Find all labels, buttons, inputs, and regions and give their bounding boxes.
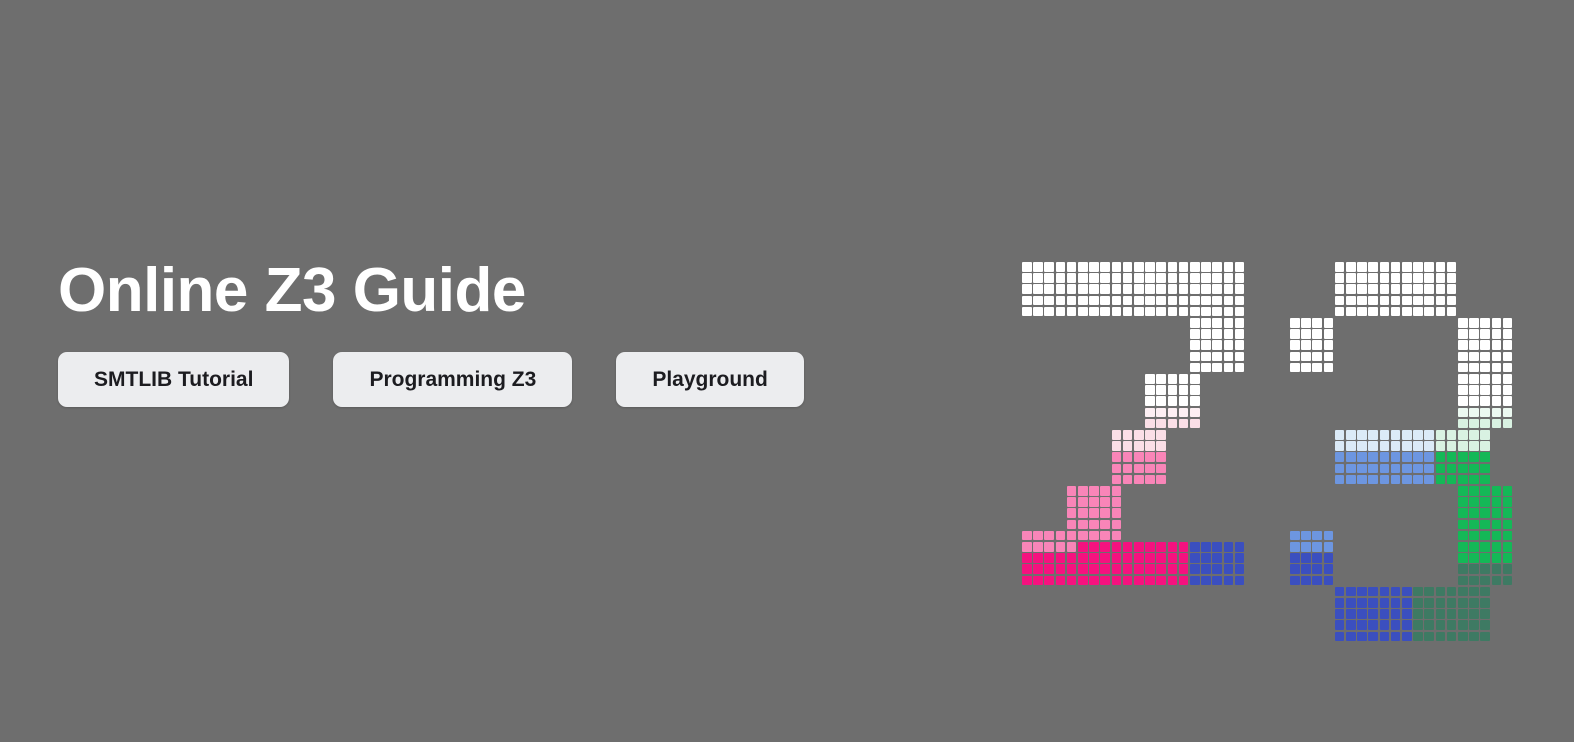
logo-pixel bbox=[1078, 497, 1088, 507]
logo-pixel bbox=[1089, 542, 1099, 552]
logo-pixel bbox=[1312, 340, 1322, 350]
logo-pixel bbox=[1089, 531, 1099, 541]
logo-pixel bbox=[1235, 542, 1245, 552]
logo-pixel bbox=[1503, 419, 1513, 429]
logo-pixel bbox=[1312, 576, 1322, 586]
logo-pixel bbox=[1224, 352, 1234, 362]
logo-pixel bbox=[1168, 396, 1178, 406]
logo-pixel bbox=[1179, 542, 1189, 552]
logo-pixel bbox=[1335, 620, 1345, 630]
logo-pixel bbox=[1436, 475, 1446, 485]
logo-pixel bbox=[1112, 296, 1122, 306]
logo-pixel bbox=[1290, 318, 1300, 328]
logo-pixel bbox=[1100, 262, 1110, 272]
logo-pixel bbox=[1469, 352, 1479, 362]
logo-pixel bbox=[1391, 609, 1401, 619]
logo-pixel bbox=[1480, 430, 1490, 440]
logo-pixel bbox=[1056, 531, 1066, 541]
logo-pixel bbox=[1324, 553, 1334, 563]
logo-pixel bbox=[1492, 363, 1502, 373]
logo-pixel bbox=[1156, 452, 1166, 462]
logo-pixel bbox=[1335, 609, 1345, 619]
logo-pixel bbox=[1033, 553, 1043, 563]
logo-pixel bbox=[1436, 598, 1446, 608]
logo-pixel bbox=[1380, 609, 1390, 619]
logo-pixel bbox=[1492, 374, 1502, 384]
logo-pixel bbox=[1100, 520, 1110, 530]
logo-pixel bbox=[1391, 464, 1401, 474]
logo-pixel bbox=[1112, 273, 1122, 283]
logo-pixel bbox=[1447, 262, 1457, 272]
logo-pixel bbox=[1123, 296, 1133, 306]
logo-pixel bbox=[1156, 441, 1166, 451]
logo-pixel bbox=[1357, 452, 1367, 462]
logo-pixel bbox=[1424, 620, 1434, 630]
logo-pixel bbox=[1469, 452, 1479, 462]
logo-pixel bbox=[1492, 531, 1502, 541]
logo-pixel bbox=[1346, 598, 1356, 608]
logo-pixel bbox=[1391, 273, 1401, 283]
logo-pixel bbox=[1067, 486, 1077, 496]
logo-pixel bbox=[1224, 329, 1234, 339]
logo-pixel bbox=[1335, 464, 1345, 474]
logo-pixel bbox=[1179, 564, 1189, 574]
logo-pixel bbox=[1224, 284, 1234, 294]
logo-pixel bbox=[1402, 441, 1412, 451]
logo-pixel bbox=[1168, 553, 1178, 563]
logo-pixel bbox=[1301, 564, 1311, 574]
logo-pixel bbox=[1044, 576, 1054, 586]
logo-pixel bbox=[1447, 587, 1457, 597]
logo-pixel bbox=[1212, 363, 1222, 373]
logo-pixel bbox=[1402, 587, 1412, 597]
logo-pixel bbox=[1190, 576, 1200, 586]
logo-pixel bbox=[1458, 441, 1468, 451]
logo-pixel bbox=[1447, 273, 1457, 283]
logo-pixel bbox=[1380, 620, 1390, 630]
programming-z3-button[interactable]: Programming Z3 bbox=[333, 352, 572, 407]
logo-pixel bbox=[1458, 508, 1468, 518]
logo-pixel bbox=[1368, 620, 1378, 630]
logo-pixel bbox=[1044, 284, 1054, 294]
logo-pixel bbox=[1391, 632, 1401, 642]
logo-pixel bbox=[1078, 564, 1088, 574]
logo-pixel bbox=[1201, 284, 1211, 294]
logo-pixel bbox=[1123, 273, 1133, 283]
logo-pixel bbox=[1134, 542, 1144, 552]
logo-pixel bbox=[1212, 576, 1222, 586]
logo-pixel bbox=[1469, 363, 1479, 373]
logo-pixel bbox=[1201, 273, 1211, 283]
logo-pixel bbox=[1145, 408, 1155, 418]
logo-pixel bbox=[1145, 430, 1155, 440]
logo-pixel bbox=[1458, 475, 1468, 485]
logo-pixel bbox=[1346, 307, 1356, 317]
logo-pixel bbox=[1145, 452, 1155, 462]
logo-pixel bbox=[1201, 307, 1211, 317]
logo-pixel bbox=[1368, 598, 1378, 608]
logo-pixel bbox=[1492, 542, 1502, 552]
logo-pixel bbox=[1357, 430, 1367, 440]
logo-pixel bbox=[1380, 452, 1390, 462]
logo-pixel bbox=[1458, 497, 1468, 507]
logo-pixel bbox=[1413, 430, 1423, 440]
logo-pixel bbox=[1123, 576, 1133, 586]
logo-pixel bbox=[1290, 340, 1300, 350]
logo-pixel bbox=[1480, 587, 1490, 597]
logo-pixel bbox=[1503, 374, 1513, 384]
logo-pixel bbox=[1235, 576, 1245, 586]
logo-pixel bbox=[1112, 542, 1122, 552]
logo-pixel bbox=[1391, 452, 1401, 462]
logo-pixel bbox=[1145, 441, 1155, 451]
logo-pixel bbox=[1224, 318, 1234, 328]
logo-pixel bbox=[1458, 620, 1468, 630]
logo-pixel bbox=[1424, 273, 1434, 283]
logo-pixel bbox=[1424, 609, 1434, 619]
logo-pixel bbox=[1447, 464, 1457, 474]
logo-pixel bbox=[1458, 352, 1468, 362]
logo-pixel bbox=[1480, 329, 1490, 339]
logo-pixel bbox=[1235, 296, 1245, 306]
logo-pixel bbox=[1078, 296, 1088, 306]
logo-pixel bbox=[1436, 441, 1446, 451]
logo-pixel bbox=[1056, 296, 1066, 306]
logo-pixel bbox=[1469, 598, 1479, 608]
logo-pixel bbox=[1056, 576, 1066, 586]
logo-pixel bbox=[1447, 475, 1457, 485]
logo-pixel bbox=[1503, 531, 1513, 541]
logo-pixel bbox=[1480, 609, 1490, 619]
logo-pixel bbox=[1469, 396, 1479, 406]
logo-pixel bbox=[1469, 531, 1479, 541]
logo-pixel bbox=[1458, 464, 1468, 474]
logo-pixel bbox=[1044, 542, 1054, 552]
logo-pixel bbox=[1368, 464, 1378, 474]
logo-pixel bbox=[1480, 352, 1490, 362]
logo-pixel bbox=[1469, 374, 1479, 384]
logo-pixel bbox=[1503, 486, 1513, 496]
logo-pixel bbox=[1469, 620, 1479, 630]
logo-pixel bbox=[1357, 475, 1367, 485]
logo-pixel bbox=[1290, 564, 1300, 574]
logo-pixel bbox=[1458, 385, 1468, 395]
logo-pixel bbox=[1100, 542, 1110, 552]
logo-pixel bbox=[1503, 363, 1513, 373]
logo-pixel bbox=[1380, 632, 1390, 642]
logo-pixel bbox=[1224, 542, 1234, 552]
logo-pixel bbox=[1235, 340, 1245, 350]
logo-pixel bbox=[1112, 576, 1122, 586]
logo-pixel bbox=[1312, 352, 1322, 362]
logo-pixel bbox=[1391, 475, 1401, 485]
logo-pixel bbox=[1112, 520, 1122, 530]
logo-pixel bbox=[1469, 464, 1479, 474]
playground-button[interactable]: Playground bbox=[616, 352, 804, 407]
logo-pixel bbox=[1056, 553, 1066, 563]
logo-pixel bbox=[1301, 553, 1311, 563]
logo-pixel bbox=[1078, 284, 1088, 294]
logo-pixel bbox=[1357, 620, 1367, 630]
logo-pixel bbox=[1335, 284, 1345, 294]
logo-pixel bbox=[1145, 307, 1155, 317]
logo-pixel bbox=[1145, 396, 1155, 406]
logo-pixel bbox=[1201, 340, 1211, 350]
logo-pixel bbox=[1179, 408, 1189, 418]
logo-pixel bbox=[1357, 296, 1367, 306]
logo-pixel bbox=[1469, 576, 1479, 586]
logo-pixel bbox=[1123, 441, 1133, 451]
logo-pixel bbox=[1357, 441, 1367, 451]
logo-pixel bbox=[1100, 553, 1110, 563]
logo-pixel bbox=[1469, 542, 1479, 552]
logo-pixel bbox=[1112, 497, 1122, 507]
logo-pixel bbox=[1168, 385, 1178, 395]
logo-pixel bbox=[1301, 352, 1311, 362]
logo-pixel bbox=[1480, 475, 1490, 485]
logo-pixel bbox=[1134, 553, 1144, 563]
logo-pixel bbox=[1458, 564, 1468, 574]
logo-pixel bbox=[1469, 441, 1479, 451]
logo-pixel bbox=[1380, 307, 1390, 317]
logo-pixel bbox=[1290, 576, 1300, 586]
logo-pixel bbox=[1413, 273, 1423, 283]
logo-pixel bbox=[1368, 441, 1378, 451]
logo-pixel bbox=[1056, 273, 1066, 283]
logo-pixel bbox=[1022, 542, 1032, 552]
logo-pixel bbox=[1123, 452, 1133, 462]
logo-pixel bbox=[1402, 284, 1412, 294]
logo-pixel bbox=[1503, 340, 1513, 350]
logo-pixel bbox=[1436, 307, 1446, 317]
logo-pixel bbox=[1324, 318, 1334, 328]
logo-pixel bbox=[1324, 576, 1334, 586]
logo-pixel bbox=[1391, 262, 1401, 272]
logo-pixel bbox=[1201, 262, 1211, 272]
logo-pixel bbox=[1145, 296, 1155, 306]
logo-pixel bbox=[1168, 307, 1178, 317]
logo-pixel bbox=[1179, 307, 1189, 317]
logo-pixel bbox=[1480, 452, 1490, 462]
logo-pixel bbox=[1503, 329, 1513, 339]
logo-pixel bbox=[1469, 486, 1479, 496]
logo-pixel bbox=[1112, 430, 1122, 440]
logo-pixel bbox=[1335, 273, 1345, 283]
logo-pixel bbox=[1100, 486, 1110, 496]
logo-pixel bbox=[1380, 587, 1390, 597]
logo-pixel bbox=[1224, 296, 1234, 306]
logo-pixel bbox=[1469, 497, 1479, 507]
logo-pixel bbox=[1100, 307, 1110, 317]
logo-pixel bbox=[1156, 307, 1166, 317]
logo-pixel bbox=[1424, 632, 1434, 642]
logo-pixel bbox=[1033, 307, 1043, 317]
logo-pixel bbox=[1022, 531, 1032, 541]
logo-pixel bbox=[1368, 296, 1378, 306]
logo-pixel bbox=[1380, 284, 1390, 294]
logo-pixel bbox=[1022, 564, 1032, 574]
logo-pixel bbox=[1480, 576, 1490, 586]
logo-pixel bbox=[1156, 284, 1166, 294]
logo-pixel bbox=[1134, 273, 1144, 283]
logo-pixel bbox=[1134, 307, 1144, 317]
logo-pixel bbox=[1190, 262, 1200, 272]
logo-pixel bbox=[1224, 576, 1234, 586]
logo-pixel bbox=[1112, 531, 1122, 541]
logo-pixel bbox=[1134, 430, 1144, 440]
logo-pixel bbox=[1458, 587, 1468, 597]
logo-pixel bbox=[1044, 531, 1054, 541]
smtlib-tutorial-button[interactable]: SMTLIB Tutorial bbox=[58, 352, 289, 407]
logo-pixel bbox=[1492, 385, 1502, 395]
logo-pixel bbox=[1312, 363, 1322, 373]
logo-pixel bbox=[1156, 419, 1166, 429]
logo-pixel bbox=[1335, 475, 1345, 485]
logo-pixel bbox=[1190, 396, 1200, 406]
logo-pixel bbox=[1402, 464, 1412, 474]
logo-pixel bbox=[1089, 486, 1099, 496]
logo-pixel bbox=[1458, 632, 1468, 642]
logo-pixel bbox=[1145, 262, 1155, 272]
logo-pixel bbox=[1458, 598, 1468, 608]
logo-pixel bbox=[1301, 531, 1311, 541]
logo-pixel bbox=[1391, 598, 1401, 608]
logo-pixel bbox=[1100, 576, 1110, 586]
logo-pixel bbox=[1480, 598, 1490, 608]
logo-pixel bbox=[1402, 598, 1412, 608]
logo-pixel bbox=[1123, 430, 1133, 440]
logo-pixel bbox=[1033, 542, 1043, 552]
logo-pixel bbox=[1424, 587, 1434, 597]
logo-pixel bbox=[1346, 632, 1356, 642]
logo-pixel bbox=[1156, 296, 1166, 306]
logo-pixel bbox=[1067, 296, 1077, 306]
logo-pixel bbox=[1402, 632, 1412, 642]
logo-pixel bbox=[1112, 564, 1122, 574]
logo-pixel bbox=[1089, 296, 1099, 306]
logo-pixel bbox=[1022, 284, 1032, 294]
logo-pixel bbox=[1469, 609, 1479, 619]
logo-pixel bbox=[1156, 374, 1166, 384]
logo-pixel bbox=[1458, 609, 1468, 619]
logo-pixel bbox=[1458, 486, 1468, 496]
logo-pixel bbox=[1346, 273, 1356, 283]
logo-pixel bbox=[1078, 531, 1088, 541]
logo-pixel bbox=[1078, 273, 1088, 283]
logo-pixel bbox=[1067, 497, 1077, 507]
logo-pixel bbox=[1447, 284, 1457, 294]
logo-pixel bbox=[1179, 374, 1189, 384]
logo-pixel bbox=[1380, 598, 1390, 608]
logo-pixel bbox=[1212, 553, 1222, 563]
logo-pixel bbox=[1022, 262, 1032, 272]
logo-pixel bbox=[1112, 307, 1122, 317]
logo-pixel bbox=[1156, 464, 1166, 474]
logo-pixel bbox=[1134, 475, 1144, 485]
logo-pixel bbox=[1123, 542, 1133, 552]
logo-pixel bbox=[1436, 430, 1446, 440]
logo-pixel bbox=[1368, 284, 1378, 294]
logo-pixel bbox=[1078, 542, 1088, 552]
logo-pixel bbox=[1458, 531, 1468, 541]
logo-pixel bbox=[1480, 553, 1490, 563]
logo-pixel bbox=[1100, 508, 1110, 518]
logo-pixel bbox=[1179, 284, 1189, 294]
logo-pixel bbox=[1458, 408, 1468, 418]
logo-pixel bbox=[1447, 441, 1457, 451]
logo-pixel bbox=[1112, 486, 1122, 496]
logo-pixel bbox=[1391, 430, 1401, 440]
logo-pixel bbox=[1380, 430, 1390, 440]
logo-pixel bbox=[1190, 385, 1200, 395]
logo-pixel bbox=[1380, 464, 1390, 474]
logo-pixel bbox=[1190, 363, 1200, 373]
logo-pixel bbox=[1469, 385, 1479, 395]
logo-pixel bbox=[1424, 307, 1434, 317]
logo-pixel bbox=[1492, 564, 1502, 574]
logo-pixel bbox=[1067, 531, 1077, 541]
logo-pixel bbox=[1033, 262, 1043, 272]
logo-pixel bbox=[1190, 352, 1200, 362]
logo-pixel bbox=[1134, 296, 1144, 306]
logo-pixel bbox=[1067, 284, 1077, 294]
logo-pixel bbox=[1436, 452, 1446, 462]
logo-pixel bbox=[1100, 497, 1110, 507]
logo-pixel bbox=[1503, 385, 1513, 395]
logo-pixel bbox=[1067, 307, 1077, 317]
logo-pixel bbox=[1123, 284, 1133, 294]
logo-pixel bbox=[1290, 553, 1300, 563]
logo-pixel bbox=[1123, 464, 1133, 474]
logo-pixel bbox=[1056, 307, 1066, 317]
logo-pixel bbox=[1402, 475, 1412, 485]
logo-pixel bbox=[1212, 318, 1222, 328]
logo-pixel bbox=[1480, 620, 1490, 630]
logo-pixel bbox=[1391, 307, 1401, 317]
logo-pixel bbox=[1503, 408, 1513, 418]
logo-pixel bbox=[1089, 553, 1099, 563]
logo-pixel bbox=[1480, 531, 1490, 541]
logo-pixel bbox=[1022, 307, 1032, 317]
logo-pixel bbox=[1324, 352, 1334, 362]
logo-pixel bbox=[1224, 363, 1234, 373]
logo-pixel bbox=[1335, 441, 1345, 451]
logo-pixel bbox=[1413, 296, 1423, 306]
logo-pixel bbox=[1301, 329, 1311, 339]
logo-pixel bbox=[1469, 329, 1479, 339]
logo-pixel bbox=[1480, 520, 1490, 530]
logo-pixel bbox=[1224, 553, 1234, 563]
logo-glyph-three bbox=[1290, 262, 1514, 643]
hero-section: Online Z3 Guide SMTLIB Tutorial Programm… bbox=[0, 0, 1574, 742]
logo-pixel bbox=[1458, 363, 1468, 373]
logo-pixel bbox=[1179, 273, 1189, 283]
logo-pixel bbox=[1436, 262, 1446, 272]
logo-pixel bbox=[1458, 340, 1468, 350]
logo-pixel bbox=[1033, 564, 1043, 574]
logo-pixel bbox=[1033, 531, 1043, 541]
logo-pixel bbox=[1469, 587, 1479, 597]
logo-pixel bbox=[1044, 296, 1054, 306]
logo-pixel bbox=[1290, 352, 1300, 362]
logo-pixel bbox=[1357, 598, 1367, 608]
logo-pixel bbox=[1402, 296, 1412, 306]
logo-pixel bbox=[1190, 329, 1200, 339]
logo-pixel bbox=[1492, 486, 1502, 496]
logo-pixel bbox=[1290, 363, 1300, 373]
logo-pixel bbox=[1324, 329, 1334, 339]
logo-pixel bbox=[1413, 262, 1423, 272]
